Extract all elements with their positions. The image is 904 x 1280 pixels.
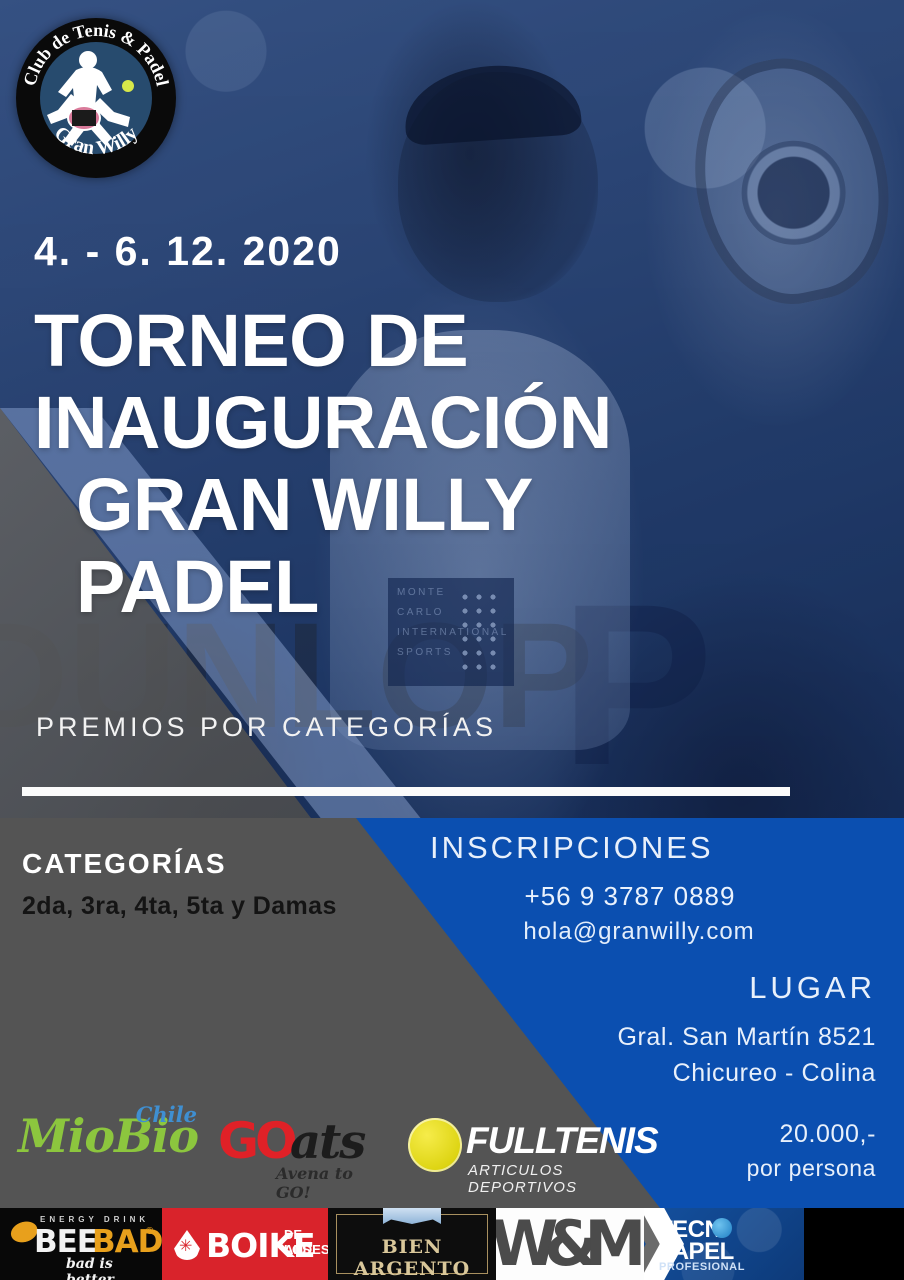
headline-line-2: INAUGURACIÓN [34, 382, 794, 464]
club-logo: Club de Tenis & Padel Gran Willy [16, 18, 176, 178]
venue-title: LUGAR [480, 970, 876, 1006]
sponsor-boike-logo: BOIKE DE LOS ANDES [162, 1208, 328, 1280]
categories-title: CATEGORÍAS [22, 848, 227, 880]
prizes-label: PREMIOS POR CATEGORÍAS [36, 712, 497, 743]
logo-tennis-ball [122, 80, 134, 92]
categories-list: 2da, 3ra, 4ta, 5ta y Damas [22, 892, 337, 921]
venue-address-line-1: Gral. San Martín 8521 [450, 1023, 876, 1052]
tennis-ball-icon [408, 1118, 462, 1172]
sponsor-fulltenis-logo: FULLTENIS ARTICULOS DEPORTIVOS [408, 1112, 628, 1184]
sponsor-wm-logo: W&M [496, 1208, 644, 1280]
sponsor-tecnopapel-line-3: PROFESIONAL [659, 1261, 745, 1273]
sponsor-beebad-eyebrow: ENERGY DRINK [40, 1215, 149, 1224]
sponsor-wm-name: W&M [496, 1212, 644, 1276]
registered-mark-icon: ® [146, 1226, 153, 1237]
sponsor-miobio-tagline: Chile [136, 1102, 197, 1127]
tecnopapel-dot-icon [712, 1218, 732, 1238]
sponsor-beebad-tagline: bad is better [66, 1256, 162, 1280]
logo-racket [68, 106, 100, 130]
page-title: TORNEO DE INAUGURACIÓN GRAN WILLY PADEL [34, 300, 794, 628]
sponsor-row-secondary: ENERGY DRINK BEE BAD ® bad is better BOI… [0, 1208, 904, 1280]
sponsor-miobio-logo: Chile MioBio [18, 1106, 203, 1186]
venue-address-line-2: Chicureo - Colina [450, 1059, 876, 1088]
logo-artwork: Club de Tenis & Padel Gran Willy [16, 18, 176, 178]
headline-line-3: GRAN WILLY PADEL [34, 464, 794, 628]
sponsor-beebad-logo: ENERGY DRINK BEE BAD ® bad is better [0, 1208, 162, 1280]
sponsor-beebad-name-bee: BEE [34, 1224, 97, 1260]
sponsor-goats-tagline: Avena to GO! [276, 1164, 383, 1202]
sponsor-slot-empty [804, 1208, 904, 1280]
tournament-poster: DUNLOP P MONTE CARLO INTERNATIONAL SPORT… [0, 0, 904, 1280]
registration-email[interactable]: hola@granwilly.com [430, 918, 848, 946]
sponsor-bien-argento-logo: BIEN ARGENTO [328, 1208, 496, 1280]
water-drop-icon [174, 1230, 200, 1260]
registration-title: INSCRIPCIONES [430, 830, 714, 866]
sponsor-row-primary: Chile MioBio GO ats Avena to GO! FULLTEN… [0, 1098, 904, 1203]
event-date: 4. - 6. 12. 2020 [34, 228, 342, 275]
sponsor-boike-sub-2: ANDES [284, 1242, 328, 1257]
sponsor-goats-logo: GO ats Avena to GO! [218, 1112, 383, 1190]
sponsor-fulltenis-name: FULLTENIS [466, 1120, 658, 1162]
sponsor-bien-argento-name: BIEN ARGENTO [328, 1236, 496, 1280]
sponsor-goats-name-go: GO [218, 1112, 294, 1170]
registration-phone[interactable]: +56 9 3787 0889 [430, 881, 830, 912]
sponsor-fulltenis-tagline: ARTICULOS DEPORTIVOS [468, 1162, 628, 1196]
headline-line-1: TORNEO DE [34, 300, 794, 382]
sponsor-goats-name-ats: ats [290, 1114, 364, 1170]
sponsor-tecnopapel-logo: TECN PAPEL PROFESIONAL [644, 1208, 804, 1280]
divider-rule [22, 787, 790, 796]
